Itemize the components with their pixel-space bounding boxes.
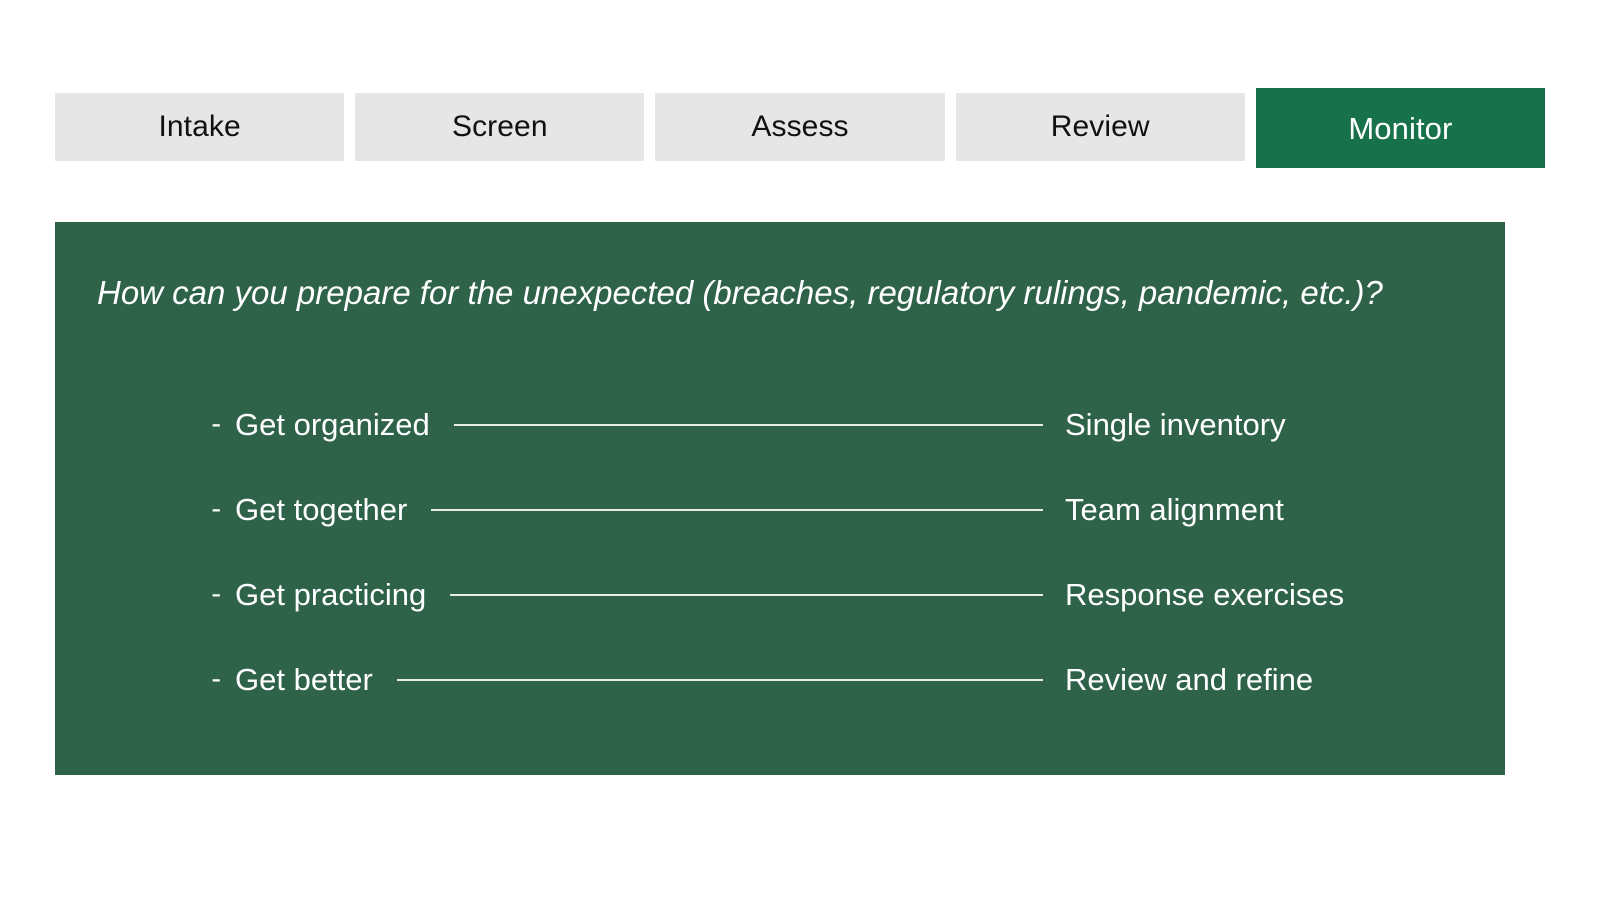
stage-tab-strip: Intake Screen Assess Review Monitor	[55, 93, 1545, 173]
row-outcome-label: Review and refine	[1065, 664, 1505, 695]
action-outcome-list: - Get organized Single inventory - Get t…	[55, 382, 1505, 722]
list-item: - Get organized Single inventory	[55, 382, 1505, 467]
bullet-dash-icon: -	[55, 495, 221, 524]
row-connector-line	[431, 509, 1043, 511]
row-action-label: Get together	[221, 494, 407, 525]
row-action-label: Get practicing	[221, 579, 426, 610]
panel-heading: How can you prepare for the unexpected (…	[97, 272, 1475, 313]
tab-review-label: Review	[1051, 112, 1150, 142]
row-action-label: Get better	[221, 664, 373, 695]
tab-review[interactable]: Review	[956, 93, 1245, 161]
bullet-dash-icon: -	[55, 410, 221, 439]
tab-assess-label: Assess	[751, 112, 848, 142]
tab-monitor[interactable]: Monitor	[1256, 88, 1545, 168]
tab-monitor-label: Monitor	[1348, 113, 1452, 144]
row-outcome-label: Response exercises	[1065, 579, 1505, 610]
list-item: - Get practicing Response exercises	[55, 552, 1505, 637]
list-item: - Get better Review and refine	[55, 637, 1505, 722]
row-outcome-label: Single inventory	[1065, 409, 1505, 440]
monitor-content-panel: How can you prepare for the unexpected (…	[55, 222, 1505, 775]
row-connector-line	[397, 679, 1043, 681]
bullet-dash-icon: -	[55, 665, 221, 694]
row-connector-line	[450, 594, 1043, 596]
row-connector-line	[454, 424, 1043, 426]
bullet-dash-icon: -	[55, 580, 221, 609]
list-item: - Get together Team alignment	[55, 467, 1505, 552]
slide-root: Intake Screen Assess Review Monitor How …	[0, 0, 1600, 900]
tab-intake[interactable]: Intake	[55, 93, 344, 161]
tab-assess[interactable]: Assess	[655, 93, 944, 161]
row-action-label: Get organized	[221, 409, 430, 440]
tab-screen[interactable]: Screen	[355, 93, 644, 161]
row-outcome-label: Team alignment	[1065, 494, 1505, 525]
tab-intake-label: Intake	[158, 112, 240, 142]
tab-screen-label: Screen	[452, 112, 548, 142]
